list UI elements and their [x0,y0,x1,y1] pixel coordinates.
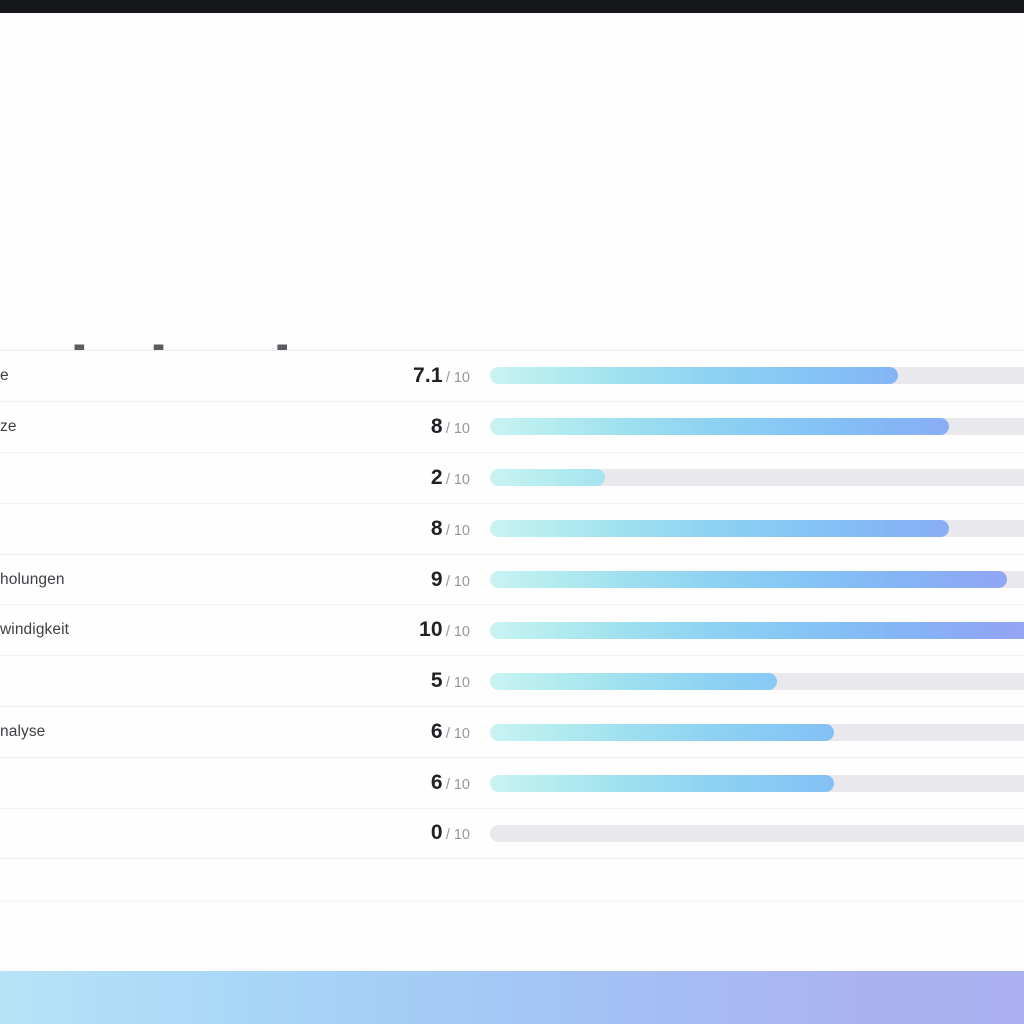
table-row[interactable]: ze8/ 10 [0,401,1024,452]
progress-fill [490,469,605,486]
score-max: / 10 [446,523,470,539]
progress-track [490,622,1024,639]
score-value: 0 [431,821,443,844]
progress-fill [490,571,1007,588]
score-max: / 10 [446,675,470,691]
table-row[interactable]: 5/ 10 [0,655,1024,706]
progress-track [490,367,1024,384]
progress-track [490,469,1024,486]
scores-card: e7.1/ 10ze8/ 102/ 108/ 10holungen9/ 10wi… [0,350,1024,900]
row-score: 5/ 10 [360,669,490,693]
score-max: / 10 [446,827,470,843]
table-row[interactable]: e7.1/ 10 [0,350,1024,401]
top-black-bar [0,0,1024,13]
slide-canvas: s Feedback durch ützte Analyse e7.1/ 10z… [0,13,1024,971]
progress-fill [490,418,949,435]
score-value: 8 [431,415,443,438]
progress-track [490,825,1024,842]
row-score: 10/ 10 [360,618,490,642]
score-value: 7.1 [413,364,443,387]
progress-track [490,571,1024,588]
score-value: 8 [431,517,443,540]
progress-track [490,418,1024,435]
score-max: / 10 [446,472,470,488]
table-row[interactable]: 0/ 10 [0,808,1024,859]
row-score: 2/ 10 [360,466,490,490]
score-value: 6 [431,720,443,743]
row-score: 9/ 10 [360,568,490,592]
row-label: ze [0,418,360,436]
table-row[interactable]: holungen9/ 10 [0,554,1024,605]
table-row[interactable]: nalyse6/ 10 [0,706,1024,757]
score-value: 9 [431,568,443,591]
score-value: 6 [431,771,443,794]
progress-track [490,673,1024,690]
progress-fill [490,673,777,690]
row-score: 7.1/ 10 [360,364,490,388]
row-score: 6/ 10 [360,720,490,744]
table-row[interactable]: windigkeit10/ 10 [0,604,1024,655]
progress-fill [490,775,834,792]
progress-fill [490,724,834,741]
row-label: nalyse [0,723,360,741]
row-score: 6/ 10 [360,771,490,795]
row-score: 8/ 10 [360,517,490,541]
score-value: 10 [419,618,443,641]
progress-track [490,775,1024,792]
score-value: 2 [431,466,443,489]
row-score: 0/ 10 [360,821,490,845]
row-score: 8/ 10 [360,415,490,439]
score-max: / 10 [446,574,470,590]
row-label: holungen [0,571,360,589]
progress-track [490,724,1024,741]
score-max: / 10 [446,777,470,793]
table-row[interactable]: 2/ 10 [0,452,1024,503]
table-row[interactable]: 8/ 10 [0,503,1024,554]
progress-fill [490,622,1024,639]
score-max: / 10 [446,370,470,386]
progress-track [490,520,1024,537]
bottom-gradient-band [0,971,1024,1024]
row-label: windigkeit [0,621,360,639]
row-label: e [0,367,360,385]
scores-list: e7.1/ 10ze8/ 102/ 108/ 10holungen9/ 10wi… [0,350,1024,859]
score-max: / 10 [446,421,470,437]
score-value: 5 [431,669,443,692]
score-max: / 10 [446,624,470,640]
score-max: / 10 [446,726,470,742]
progress-fill [490,520,949,537]
progress-fill [490,367,898,384]
table-row[interactable]: 6/ 10 [0,757,1024,808]
